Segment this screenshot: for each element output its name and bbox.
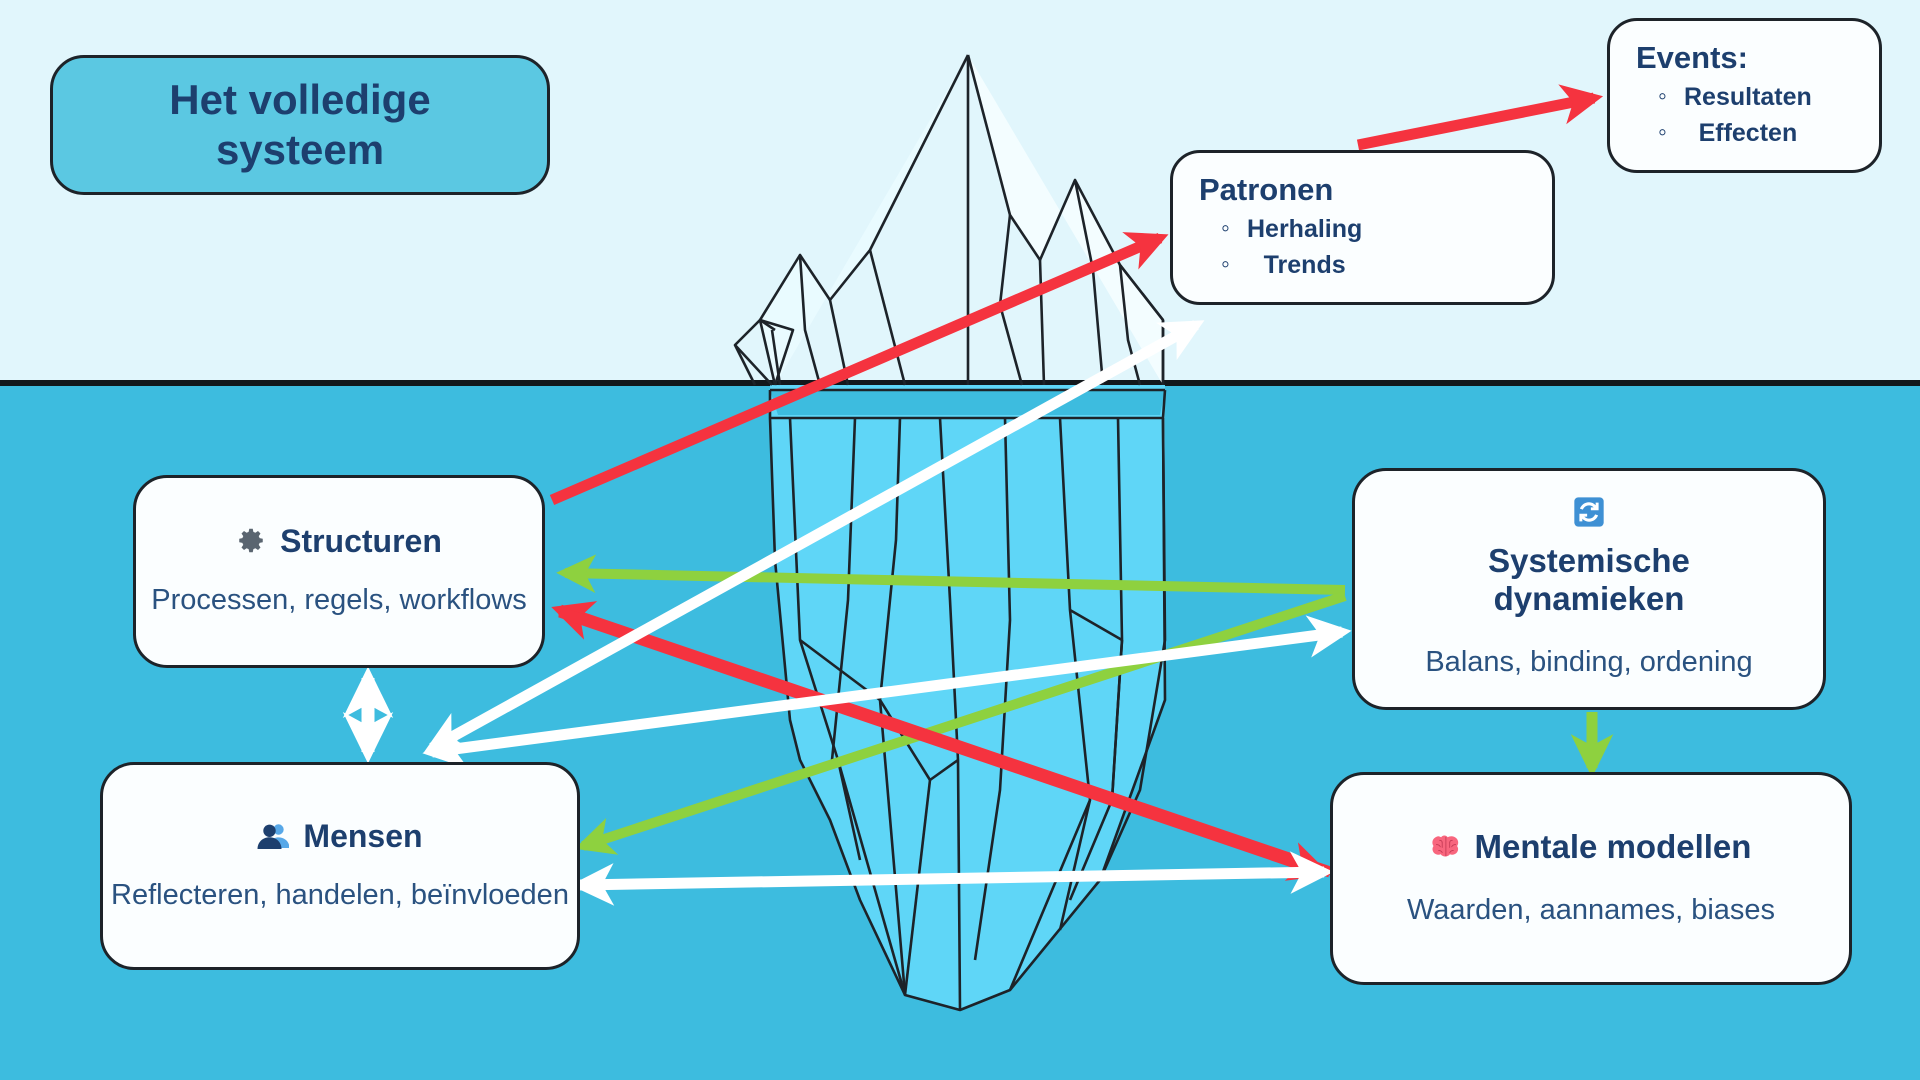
- gear-icon: [236, 527, 266, 557]
- list-item: Effecten: [1658, 116, 1812, 152]
- card-events[interactable]: Events: Resultaten Effecten: [1607, 18, 1882, 173]
- card-dynamieken[interactable]: Systemische dynamieken Balans, binding, …: [1352, 468, 1826, 710]
- card-mentale[interactable]: Mentale modellen Waarden, aannames, bias…: [1330, 772, 1852, 985]
- card-structuren-title-row: Structuren: [236, 523, 442, 560]
- card-mentale-subtitle: Waarden, aannames, biases: [1407, 892, 1775, 930]
- list-item: Herhaling: [1221, 212, 1362, 248]
- arrow-dynamieken-to-structuren: [565, 573, 1345, 590]
- diagram-canvas: Het volledige systeem Patronen Herhaling…: [0, 0, 1920, 1080]
- list-item: Trends: [1221, 248, 1362, 284]
- card-dynamieken-title-row: Systemische dynamieken: [1419, 496, 1759, 618]
- people-icon: [257, 821, 289, 851]
- card-structuren-subtitle: Processen, regels, workflows: [151, 582, 527, 620]
- arrow-mensen-to-dynamieken: [432, 632, 1342, 752]
- title-banner: Het volledige systeem: [50, 55, 550, 195]
- arrow-mensen-to-mentale: [580, 872, 1324, 885]
- card-structuren[interactable]: Structuren Processen, regels, workflows: [133, 475, 545, 668]
- card-mensen[interactable]: Mensen Reflecteren, handelen, beïnvloede…: [100, 762, 580, 970]
- card-patronen[interactable]: Patronen Herhaling Trends: [1170, 150, 1555, 305]
- card-patronen-header: Patronen: [1199, 172, 1333, 208]
- card-structuren-title: Structuren: [280, 523, 442, 560]
- card-dynamieken-title: Systemische dynamieken: [1419, 542, 1759, 618]
- card-mensen-subtitle: Reflecteren, handelen, beïnvloeden: [111, 877, 569, 915]
- refresh-cycle-icon: [1573, 496, 1605, 528]
- arrow-structuren-to-patronen: [552, 238, 1160, 500]
- card-events-list: Resultaten Effecten: [1636, 80, 1812, 151]
- arrow-patronen-to-events: [1358, 98, 1594, 145]
- card-patronen-list: Herhaling Trends: [1199, 212, 1362, 283]
- card-mensen-title-row: Mensen: [257, 818, 422, 855]
- page-title: Het volledige systeem: [135, 75, 465, 176]
- card-mentale-title: Mentale modellen: [1475, 828, 1752, 866]
- list-item: Resultaten: [1658, 80, 1812, 116]
- card-mensen-title: Mensen: [303, 818, 422, 855]
- card-events-header: Events:: [1636, 40, 1748, 76]
- brain-icon: [1431, 833, 1461, 861]
- card-mentale-title-row: Mentale modellen: [1431, 828, 1752, 866]
- card-dynamieken-subtitle: Balans, binding, ordening: [1425, 644, 1752, 682]
